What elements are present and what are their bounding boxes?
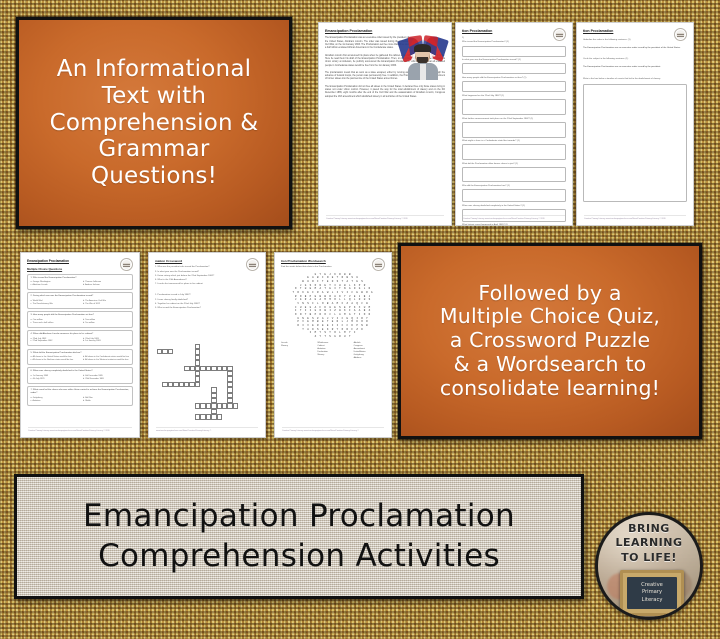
crossword-clue: 4. Together he cabinet on the 22nd July … <box>155 303 259 306</box>
grammar-task: Underline the verbs in the following sen… <box>583 39 687 42</box>
chalkboard-icon: Creative Primary Literacy <box>620 570 684 616</box>
mcq-option[interactable]: d. All slaves in the Western territories… <box>83 359 130 362</box>
sheet-subtitle: Multiple Choice Questions <box>27 267 133 271</box>
wordsearch-row: Z Y T S G R U T <box>281 335 385 339</box>
wordsearch-instruction: Find the words below that relate to the … <box>281 266 385 269</box>
crossword-clue: 2. It was slavery finally abolished? <box>155 299 259 302</box>
question-text: When was slavery abolished completely in… <box>462 205 566 208</box>
mcq-option[interactable]: c. Antietam <box>31 400 78 403</box>
sheet-footer: Creative Primary Literacy www.teacherspa… <box>326 215 444 221</box>
sheet-title: tion Proclamation Wordsearch <box>281 259 385 263</box>
wordsearch-word-list: Lincoln Slavery Whitehouse Cabinet Antie… <box>281 342 385 361</box>
sheet-footer: Creative Primary Literacy www.teacherspa… <box>28 427 132 433</box>
worksheet-reading-text[interactable]: Emancipation Proclamation The Emancipati… <box>318 22 452 226</box>
question-text: What might a slave in a Confederate stat… <box>462 140 566 143</box>
sheet-footer: Creative Primary Literacy www.teacherspa… <box>463 215 565 221</box>
seal-icon <box>372 258 385 271</box>
worksheet-grammar[interactable]: tion Proclamation Underline the verbs in… <box>576 22 694 226</box>
worksheet-comprehension-questions[interactable]: tion Proclamation 1) Who issued the Eman… <box>455 22 573 226</box>
grammar-task: Circle the subject in the following sent… <box>583 58 687 61</box>
mcq-question: 3. How many people did the Emancipation … <box>31 314 130 317</box>
mcq-option[interactable]: c. All slaves in the Northern states wou… <box>31 359 78 362</box>
mcq-option[interactable]: c. Three and a half million <box>31 322 78 325</box>
mcq-option[interactable]: c. 22nd September 1862 <box>31 340 78 343</box>
mcq-option[interactable]: c. Abraham Lincoln <box>31 284 78 287</box>
answer-box[interactable] <box>462 81 566 92</box>
mcq-item[interactable]: 1. Who issued the Emancipation Proclamat… <box>27 274 133 290</box>
title-line: Emancipation Proclamation <box>83 497 515 537</box>
wordsearch-word: Slavery <box>317 354 348 357</box>
promo-line: Followed by a <box>440 282 660 306</box>
wordsearch-word: Address <box>354 357 385 360</box>
question-text: What further announcement took place on … <box>462 118 566 121</box>
chalkboard-line-3: Literacy <box>642 597 663 605</box>
wordsearch-word-column: Lincoln Slavery <box>281 342 312 361</box>
wordsearch-word-column: Whitehouse Cabinet Antietam Declaration … <box>317 342 348 361</box>
sheet-footer: Creative Primary Literacy www.teacherspa… <box>282 427 384 433</box>
worksheet-wordsearch[interactable]: tion Proclamation Wordsearch Find the wo… <box>274 252 392 438</box>
brand-logo[interactable]: BRING LEARNING TO LIFE! Creative Primary… <box>595 512 703 620</box>
mcq-item[interactable]: 6. When was slavery completely abolished… <box>27 367 133 383</box>
promo-line: & a Wordsearch to <box>440 353 660 377</box>
sheet-footer: Creative Primary Literacy www.teacherspa… <box>584 215 686 221</box>
mcq-item[interactable]: 5. What did the Emancipation Proclamatio… <box>27 349 133 365</box>
promo-line: Comprehension & <box>50 110 259 137</box>
promo-line: An Informational <box>50 56 259 83</box>
mcq-option[interactable]: d. 29th November 1865 <box>83 378 130 381</box>
title-plaque: Emancipation Proclamation Comprehension … <box>14 474 584 599</box>
seal-icon <box>246 258 259 271</box>
sheet-title: Emancipation Proclamation <box>27 259 133 264</box>
sheet-title: tion Proclamation <box>583 29 687 34</box>
grammar-sentence: The Emancipation Proclamation was an exe… <box>583 66 687 69</box>
seal-icon <box>120 258 133 271</box>
worksheet-multiple-choice[interactable]: Emancipation Proclamation Multiple Choic… <box>20 252 140 438</box>
question-text: What historic event happened in April 18… <box>462 224 566 226</box>
promo-line: Multiple Choice Quiz, <box>440 305 660 329</box>
sheet-title: tion Proclamation <box>462 29 566 34</box>
promo-top-left-text: An Informational Text with Comprehension… <box>44 52 265 193</box>
wordsearch-word: Slavery <box>281 345 312 348</box>
mcq-option[interactable]: d. Ten million <box>83 322 130 325</box>
mcq-option[interactable]: c. 4th July 1876 <box>31 378 78 381</box>
answer-box[interactable] <box>462 189 566 202</box>
mcq-item[interactable]: 3. How many people did the Emancipation … <box>27 311 133 327</box>
timeline-answer-box[interactable] <box>583 84 687 202</box>
crossword-clue: 5. Union victory which just before the 2… <box>155 275 259 278</box>
sheet-title: Emancipation Proclamation <box>325 29 445 34</box>
crossword-clue: 1. Proclamation issued in July 1862? <box>155 294 259 297</box>
promo-line: Questions! <box>50 163 259 190</box>
mcq-option[interactable]: d. Andrew Jackson <box>83 284 130 287</box>
promo-banner-right: Followed by a Multiple Choice Quiz, a Cr… <box>398 243 702 439</box>
logo-line-2: LEARNING <box>598 537 700 548</box>
mcq-question: 6. When was slavery completely abolished… <box>31 370 130 373</box>
mcq-option[interactable]: d. The War of 1812 <box>83 303 130 306</box>
mcq-item[interactable]: 2. During which war was the Emancipation… <box>27 292 133 308</box>
mcq-item[interactable]: 4. When did Abraham Lincoln announce his… <box>27 330 133 346</box>
lincoln-illustration <box>400 36 446 80</box>
mcq-option[interactable]: d. Shiloh <box>83 400 130 403</box>
mcq-item[interactable]: 7. What event led the slaves who was wit… <box>27 386 133 406</box>
question-text: What did the Proclamation allow former s… <box>462 163 566 166</box>
sheet-footer: www.teacherspayteachers.com/Store/Creati… <box>156 427 258 433</box>
mcq-option[interactable]: c. The Revolutionary War <box>31 303 78 306</box>
title-line: Comprehension Activities <box>98 537 500 577</box>
promo-line: a Crossword Puzzle <box>440 329 660 353</box>
chalkboard-line-2: Primary <box>642 589 662 597</box>
crossword-grid[interactable] <box>157 339 259 424</box>
question-text: Who did the Emancipation Proclamation fr… <box>462 185 566 188</box>
wordsearch-grid[interactable]: G Y E J K R W B E A B I N E T R B S U B … <box>281 273 385 339</box>
mcq-question: 2. During which war was the Emancipation… <box>31 295 130 298</box>
reading-paragraph: The Emancipation Proclamation was an exe… <box>325 37 409 50</box>
grammar-task: Write in the box below a timeline of eve… <box>583 78 687 81</box>
grammar-sentence: The Emancipation Proclamation was an exe… <box>583 47 687 50</box>
reading-paragraph: The Emancipation Proclamation did not fr… <box>325 86 445 99</box>
answer-box[interactable] <box>462 63 566 74</box>
seal-icon <box>553 28 566 41</box>
question-text: What happened on the 22nd July 1862? (1) <box>462 95 566 98</box>
answer-box[interactable] <box>462 99 566 115</box>
question-intro: 1) <box>462 37 566 40</box>
crossword-clue: 7. Lincoln first announced his plans to … <box>155 283 259 286</box>
crossword-clue: 1. Who was the president who issued the … <box>155 266 259 269</box>
wordsearch-word-column: Abolish Congress Amendment UnitedStates … <box>354 342 385 361</box>
answer-box[interactable] <box>462 46 566 57</box>
seal-icon <box>674 28 687 41</box>
crossword-clue: 3. In what year was the Proclamation iss… <box>155 271 259 274</box>
promo-line: Grammar <box>50 136 259 163</box>
promo-line: Text with <box>50 83 259 110</box>
logo-line-1: BRING <box>598 523 700 534</box>
question-text: Who issued the Emancipation Proclamation… <box>462 41 566 44</box>
answer-box[interactable] <box>462 122 566 138</box>
answer-box[interactable] <box>462 167 566 182</box>
mcq-question: 5. What did the Emancipation Proclamatio… <box>31 352 130 355</box>
crossword-clue: 6. What is the 13th Amendment? <box>155 279 259 282</box>
question-text: How many people did the Emancipation Pro… <box>462 77 566 80</box>
mcq-question: 1. Who issued the Emancipation Proclamat… <box>31 277 130 280</box>
chalkboard-line-1: Creative <box>641 582 663 590</box>
logo-line-3: TO LIFE! <box>598 552 700 563</box>
crossword-clue: 5. Who issued the Emancipation Proclamat… <box>155 307 259 310</box>
question-text: In what year was the Emancipation Procla… <box>462 59 566 62</box>
answer-box[interactable] <box>462 144 566 160</box>
mcq-question: 4. When did Abraham Lincoln announce his… <box>31 333 130 336</box>
promo-banner-top-left: An Informational Text with Comprehension… <box>16 17 292 229</box>
mcq-question: 7. What event led the slaves who was wit… <box>31 389 130 395</box>
worksheet-crossword[interactable]: mation Crossword 1. Who was the presiden… <box>148 252 266 438</box>
chalkboard-slate: Creative Primary Literacy <box>627 577 677 609</box>
promo-right-text: Followed by a Multiple Choice Quiz, a Cr… <box>434 278 666 405</box>
mcq-option[interactable]: d. 1st January 1863 <box>83 340 130 343</box>
promo-line: consolidate learning! <box>440 377 660 401</box>
sheet-title: mation Crossword <box>155 259 259 263</box>
